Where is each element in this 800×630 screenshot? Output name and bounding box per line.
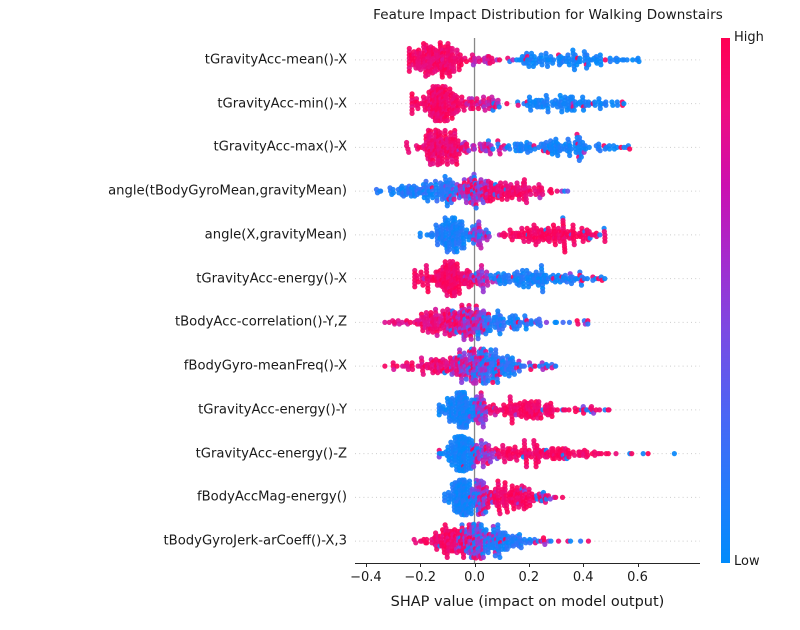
shap-point — [672, 451, 677, 456]
shap-point — [475, 336, 480, 341]
shap-point — [565, 189, 570, 194]
x-axis-line — [355, 563, 700, 564]
y-axis-label-11: tBodyGyroJerk-arCoeff()-X,3 — [164, 534, 348, 549]
shap-point — [482, 108, 487, 113]
shap-point — [516, 103, 521, 108]
shap-point — [511, 506, 516, 511]
shap-point — [497, 57, 502, 62]
shap-point — [578, 539, 583, 544]
shap-point — [497, 104, 502, 109]
shap-point — [469, 337, 474, 342]
shap-point — [435, 333, 440, 338]
beeswarm-row-3 — [374, 172, 570, 211]
shap-point — [646, 451, 651, 456]
shap-point — [585, 276, 590, 281]
shap-point — [456, 108, 461, 113]
shap-point — [451, 197, 456, 202]
shap-point — [497, 555, 502, 560]
x-tick-mark-5 — [638, 563, 639, 567]
shap-point — [545, 109, 550, 114]
x-tick-mark-4 — [583, 563, 584, 567]
shap-point — [629, 451, 634, 456]
shap-point — [425, 198, 430, 203]
x-tick-label-5: 0.6 — [627, 570, 648, 585]
shap-point — [507, 279, 512, 284]
shap-point — [454, 162, 459, 167]
shap-point — [503, 232, 508, 237]
beeswarm-row-1 — [409, 84, 626, 124]
shap-point — [607, 146, 612, 151]
shap-point — [457, 291, 462, 296]
shap-point — [497, 151, 502, 156]
shap-point — [481, 424, 486, 429]
shap-point — [567, 62, 572, 67]
x-axis-title: SHAP value (impact on model output) — [355, 594, 700, 610]
shap-point — [562, 249, 567, 254]
shap-point — [587, 145, 592, 150]
shap-point — [457, 67, 462, 72]
shap-point — [483, 509, 488, 514]
shap-point — [602, 276, 607, 281]
shap-point — [528, 192, 533, 197]
shap-point — [502, 459, 507, 464]
shap-point — [445, 203, 450, 208]
shap-point — [415, 106, 420, 111]
shap-point — [610, 103, 615, 108]
shap-point — [528, 108, 533, 113]
beeswarm-row-10 — [442, 477, 565, 517]
shap-point — [560, 320, 565, 325]
shap-point — [636, 59, 641, 64]
shap-point — [532, 364, 537, 369]
shap-point — [466, 148, 471, 153]
shap-point — [454, 249, 459, 254]
shap-point — [621, 101, 626, 106]
shap-point — [575, 321, 580, 326]
shap-point — [555, 153, 560, 158]
shap-point — [424, 540, 429, 545]
x-tick-label-4: 0.4 — [573, 570, 594, 585]
shap-point — [473, 380, 478, 385]
shap-point — [459, 380, 464, 385]
shap-point — [553, 495, 558, 500]
shap-point — [464, 425, 469, 430]
x-tick-label-3: 0.2 — [519, 570, 540, 585]
shap-point — [490, 146, 495, 151]
shap-point — [585, 453, 590, 458]
shap-point — [579, 283, 584, 288]
shap-point — [507, 146, 512, 151]
shap-point — [409, 111, 414, 116]
shap-point — [435, 242, 440, 247]
y-axis-label-6: tBodyAcc-correlation()-Y,Z — [175, 315, 347, 330]
shap-point — [567, 320, 572, 325]
shap-point — [505, 509, 510, 514]
y-axis-label-1: tGravityAcc-min()-X — [217, 96, 347, 111]
shap-point — [578, 59, 583, 64]
shap-point — [504, 101, 509, 106]
shap-point — [606, 407, 611, 412]
shap-point — [627, 146, 632, 151]
shap-point — [533, 464, 538, 469]
shap-point — [440, 159, 445, 164]
shap-point — [599, 451, 604, 456]
shap-point — [579, 155, 584, 160]
shap-point — [445, 162, 450, 167]
shap-point — [469, 511, 474, 516]
shap-point — [487, 234, 492, 239]
shap-point — [407, 69, 412, 74]
shap-point — [540, 192, 545, 197]
shap-point — [440, 74, 445, 79]
shap-summary-figure: Feature Impact Distribution for Walking … — [0, 0, 800, 630]
shap-point — [514, 458, 519, 463]
shap-point — [572, 108, 577, 113]
shap-point — [485, 283, 490, 288]
shap-point — [606, 451, 611, 456]
shap-point — [512, 372, 517, 377]
shap-point — [598, 148, 603, 153]
shap-point — [478, 245, 483, 250]
shap-point — [490, 380, 495, 385]
shap-point — [554, 189, 559, 194]
shap-point — [488, 328, 493, 333]
shap-point — [549, 190, 554, 195]
x-tick-label-1: −0.2 — [404, 570, 436, 585]
shap-point — [524, 464, 529, 469]
x-axis: −0.4−0.20.00.20.40.6 — [355, 563, 700, 565]
shap-point — [603, 103, 608, 108]
shap-point — [524, 326, 529, 331]
y-axis-label-2: tGravityAcc-max()-X — [213, 140, 347, 155]
shap-point — [544, 320, 549, 325]
shap-point — [490, 197, 495, 202]
shap-point — [556, 539, 561, 544]
shap-point — [461, 245, 466, 250]
y-axis-label-3: angle(tBodyGyroMean,gravityMean) — [108, 184, 347, 199]
shap-point — [464, 377, 469, 382]
shap-point — [481, 289, 486, 294]
shap-point — [472, 146, 477, 151]
shap-point — [485, 505, 490, 510]
shap-point — [522, 364, 527, 369]
shap-point — [569, 146, 574, 151]
shap-point — [457, 151, 462, 156]
shap-point — [567, 153, 572, 158]
shap-point — [560, 495, 565, 500]
shap-point — [608, 59, 613, 64]
shap-point — [382, 364, 387, 369]
y-axis-feature-labels: tGravityAcc-mean()-XtGravityAcc-min()-Xt… — [0, 0, 347, 630]
shap-point — [430, 161, 435, 166]
shap-point — [517, 197, 522, 202]
shap-point — [598, 106, 603, 111]
shap-point — [481, 555, 486, 560]
shap-point — [597, 232, 602, 237]
shap-point — [613, 451, 618, 456]
beeswarm-row-2 — [404, 128, 632, 168]
shap-point — [597, 407, 602, 412]
shap-point — [521, 239, 526, 244]
shap-point — [406, 150, 411, 155]
shap-point — [510, 420, 515, 425]
shap-point — [539, 62, 544, 67]
shap-point — [538, 323, 543, 328]
shap-point — [471, 464, 476, 469]
shap-point — [553, 364, 558, 369]
shap-point — [474, 205, 479, 210]
shap-point — [410, 367, 415, 372]
x-tick-mark-3 — [529, 563, 530, 567]
shap-point — [378, 189, 383, 194]
x-tick-mark-0 — [366, 563, 367, 567]
shap-point — [554, 320, 559, 325]
y-axis-label-5: tGravityAcc-energy()-X — [196, 271, 347, 286]
shap-point — [551, 57, 556, 62]
beeswarm-plot-area — [355, 38, 700, 563]
y-axis-label-7: fBodyGyro-meanFreq()-X — [184, 359, 347, 374]
shap-point — [445, 118, 450, 123]
shap-point — [485, 378, 490, 383]
beeswarm-row-5 — [412, 259, 607, 298]
shap-point — [420, 283, 425, 288]
shap-point — [536, 459, 541, 464]
shap-point — [549, 414, 554, 419]
beeswarm-row-7 — [382, 347, 558, 386]
shap-point — [421, 372, 426, 377]
shap-point — [462, 108, 467, 113]
shap-point — [641, 451, 646, 456]
shap-point — [568, 539, 573, 544]
shap-point — [466, 419, 471, 424]
x-tick-mark-1 — [420, 563, 421, 567]
shap-point — [555, 407, 560, 412]
shap-point — [461, 555, 466, 560]
shap-point — [581, 108, 586, 113]
shap-point — [445, 555, 450, 560]
colorbar-high-label: High — [734, 30, 764, 45]
shap-point — [488, 459, 493, 464]
shap-point — [451, 69, 456, 74]
shap-point — [521, 284, 526, 289]
y-axis-label-10: fBodyAccMag-energy() — [197, 490, 347, 505]
beeswarm-row-9 — [437, 434, 677, 474]
shap-point — [586, 62, 591, 67]
shap-point — [447, 74, 452, 79]
shap-point — [519, 545, 524, 550]
shap-point — [566, 407, 571, 412]
shap-point — [394, 364, 399, 369]
shap-point — [412, 284, 417, 289]
shap-point — [434, 198, 439, 203]
shap-point — [603, 57, 608, 62]
shap-point — [545, 64, 550, 69]
shap-point — [499, 197, 504, 202]
beeswarm-row-8 — [437, 390, 612, 430]
x-tick-mark-2 — [475, 563, 476, 567]
shap-point — [527, 503, 532, 508]
shap-point — [413, 540, 418, 545]
shap-point — [476, 106, 481, 111]
shap-point — [598, 62, 603, 67]
shap-point — [495, 380, 500, 385]
beeswarm-row-6 — [382, 303, 590, 342]
beeswarm-row-4 — [418, 215, 608, 254]
y-axis-label-0: tGravityAcc-mean()-X — [205, 52, 347, 67]
y-axis-label-8: tGravityAcc-energy()-Y — [198, 402, 347, 417]
colorbar-low-label: Low — [734, 554, 760, 569]
beeswarm-row-0 — [407, 40, 642, 80]
shap-point — [559, 109, 564, 114]
shap-point — [586, 539, 591, 544]
shap-point — [470, 106, 475, 111]
shap-point — [524, 200, 529, 205]
shap-point — [483, 417, 488, 422]
shap-point — [517, 368, 522, 373]
shap-point — [391, 190, 396, 195]
shap-point — [497, 511, 502, 516]
shap-point — [481, 464, 486, 469]
shap-point — [418, 234, 423, 239]
shap-point — [602, 239, 607, 244]
x-tick-label-0: −0.4 — [350, 570, 382, 585]
shap-point — [450, 116, 455, 121]
shap-point — [538, 415, 543, 420]
shap-point — [488, 151, 493, 156]
shap-point — [540, 289, 545, 294]
shap-point — [572, 67, 577, 72]
shap-point — [425, 289, 430, 294]
shap-point — [553, 242, 558, 247]
shap-point — [585, 321, 590, 326]
shap-point — [548, 539, 553, 544]
chart-title-text: Feature Impact Distribution for Walking … — [373, 7, 723, 23]
colorbar — [721, 38, 730, 563]
shap-point — [447, 247, 452, 252]
shap-point — [615, 103, 620, 108]
shap-point — [625, 57, 630, 62]
beeswarm-row-11 — [412, 521, 592, 560]
shap-point — [572, 242, 577, 247]
y-axis-label-9: tGravityAcc-energy()-Z — [196, 446, 347, 461]
shap-point — [459, 62, 464, 67]
x-tick-label-2: 0.0 — [464, 570, 485, 585]
shap-point — [486, 550, 491, 555]
beeswarm-svg — [355, 38, 700, 563]
shap-point — [497, 331, 502, 336]
y-axis-label-4: angle(X,gravityMean) — [205, 227, 347, 242]
shap-point — [572, 453, 577, 458]
